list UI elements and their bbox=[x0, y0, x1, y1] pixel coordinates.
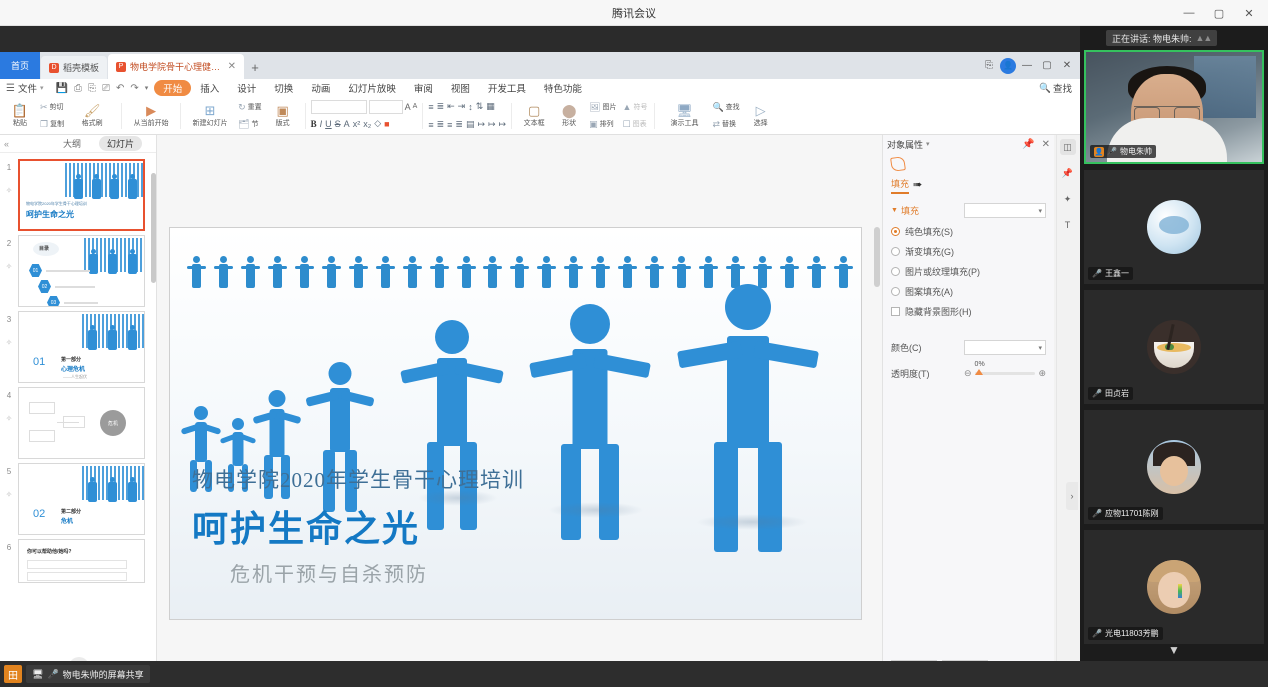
backup-icon[interactable]: ⎘ bbox=[980, 56, 998, 76]
subscript-icon[interactable]: x₂ bbox=[363, 119, 371, 129]
people-figures-art bbox=[69, 171, 141, 199]
animation-star-icon: ✧ bbox=[0, 262, 18, 271]
copy-label: 复制 bbox=[50, 119, 64, 129]
align-middle-icon[interactable]: ↦ bbox=[488, 119, 496, 130]
toc-number-badge: 01 bbox=[29, 264, 42, 277]
slider-knob[interactable] bbox=[975, 369, 983, 375]
tab-animation[interactable]: 动画 bbox=[302, 80, 339, 96]
mic-muted-icon: 🎤 bbox=[1092, 629, 1102, 638]
radio-solid-fill[interactable]: 纯色填充(S) bbox=[891, 225, 1046, 238]
font-column: A A B I U S A x² x₂ ◇ ■ bbox=[311, 100, 418, 132]
redo-icon[interactable]: ↷ bbox=[130, 83, 138, 94]
dock-icon: D bbox=[49, 63, 59, 73]
reset-icon: ↻ bbox=[238, 102, 246, 113]
section-button[interactable]: 🗂 节 bbox=[236, 117, 264, 132]
paste-label: 粘贴 bbox=[13, 118, 27, 128]
layout-button[interactable]: ▣ 版式 bbox=[266, 104, 300, 128]
tab-features[interactable]: 特色功能 bbox=[535, 80, 591, 96]
font-name-input[interactable] bbox=[311, 100, 367, 114]
wps-menu-bar: ☰ 文件 ▾ 💾 ⎙ ⎘ ⎚ ↶ ↷ ▾ 开始 插入 设计 切换 动画 bbox=[0, 79, 1080, 97]
wps-tab-label: 物电学院骨干心理健康培训.pptx bbox=[130, 60, 222, 73]
thumbnail-number: 4✧ bbox=[0, 387, 18, 423]
tab-outline[interactable]: 大纲 bbox=[55, 136, 89, 151]
thumbnail-preview[interactable]: 你可以帮助他/她吗? bbox=[18, 539, 145, 583]
grow-font-icon[interactable]: A bbox=[405, 102, 411, 112]
find-label: 查找 bbox=[726, 102, 740, 112]
superscript-icon[interactable]: x² bbox=[353, 119, 361, 129]
picture-label: 图片 bbox=[603, 102, 617, 112]
audio-wave-icon: ▲▲ bbox=[1196, 33, 1212, 43]
clipboard-group: 📋 粘贴 ✂ 剪切 ❐ 复制 🖌 bbox=[4, 97, 116, 135]
replace-icon: ⇄ bbox=[712, 119, 720, 130]
symbol-column: ▲ 符号 ☐ 图表 bbox=[621, 100, 650, 132]
mini-title: 目录 bbox=[39, 245, 49, 252]
highlight-icon[interactable]: ■ bbox=[384, 119, 389, 129]
meeting-title-bar: 腾讯会议 — ▢ ✕ bbox=[0, 0, 1268, 26]
participant-name: 应物11701陈刚 bbox=[1105, 508, 1159, 519]
slide-main-title[interactable]: 呵护生命之光 bbox=[192, 500, 420, 552]
paragraph-column: ≡ ≣ ⇤ ⇥ ↕ ⇅ ▦ ≡ ≣ ≡ ≣ bbox=[428, 99, 506, 133]
from-current-button[interactable]: ▶ 从当前开始 bbox=[127, 104, 175, 128]
layout-label: 版式 bbox=[276, 118, 290, 128]
thumbnail-list[interactable]: 1✧ 物电学院2020年学生骨干心理培训 呵护生命之光 bbox=[0, 153, 157, 661]
color-picker-dropdown[interactable]: ▾ bbox=[964, 340, 1046, 355]
collapse-pane-icon[interactable]: « bbox=[4, 139, 9, 149]
transparency-value: 0% bbox=[975, 361, 985, 368]
thumbnail-item[interactable]: 3✧ 01 第一部分 心理危机 bbox=[0, 307, 157, 383]
decrease-indent-icon[interactable]: ⇤ bbox=[447, 101, 455, 112]
wps-tab-strip: 首页 D 稻壳模板 P 物电学院骨干心理健康培训.pptx ✕ + ⎘ 👤 — … bbox=[0, 52, 1080, 79]
scroll-down-button[interactable]: ▼ bbox=[1080, 643, 1268, 657]
restore-icon[interactable]: ▢ bbox=[1038, 56, 1056, 76]
participant-name: 田贞岩 bbox=[1105, 388, 1129, 399]
paste-icon: 📋 bbox=[12, 104, 28, 117]
section-title: 第一部分 bbox=[61, 356, 81, 363]
fill-section-title[interactable]: ▼ 填充 bbox=[891, 204, 919, 217]
cut-button[interactable]: ✂ 剪切 bbox=[38, 100, 66, 115]
radio-picture-texture-fill[interactable]: 图片或纹理填充(P) bbox=[891, 265, 1046, 278]
taskbar-item-label: 物电朱帅的屏幕共享 bbox=[63, 668, 144, 681]
list-row: ≡ ≣ ⇤ ⇥ ↕ ⇅ ▦ bbox=[428, 99, 506, 115]
tab-review[interactable]: 审阅 bbox=[405, 80, 442, 96]
italic-button[interactable]: I bbox=[320, 119, 323, 129]
mini-slide: 危机 bbox=[19, 388, 144, 458]
pin-rail-icon[interactable]: 📌 bbox=[1060, 165, 1076, 181]
tab-insert[interactable]: 插入 bbox=[191, 80, 228, 96]
active-speaker-banner: 正在讲话: 物电朱帅: ▲▲ bbox=[1106, 30, 1217, 46]
wps-ribbon: 📋 粘贴 ✂ 剪切 ❐ 复制 🖌 bbox=[0, 97, 1080, 135]
increase-icon[interactable]: ⊕ bbox=[1038, 368, 1046, 379]
align-bottom-icon[interactable]: ↦ bbox=[499, 119, 507, 130]
radio-indicator bbox=[891, 247, 900, 256]
meeting-window-title: 腾讯会议 bbox=[612, 5, 656, 21]
new-slide-icon: ⊞ bbox=[205, 104, 216, 117]
wps-home-tab[interactable]: 首页 bbox=[0, 52, 40, 79]
transparency-slider[interactable]: ⊖ 0% ⊕ bbox=[964, 368, 1046, 379]
fill-section: ▼ 填充 ▾ 纯色填充(S) bbox=[883, 203, 1054, 380]
animation-star-icon: ✧ bbox=[0, 186, 18, 195]
pin-icon[interactable]: 📌 bbox=[1022, 139, 1034, 150]
font-group: A A B I U S A x² x₂ ◇ ■ bbox=[311, 97, 418, 135]
increase-indent-icon[interactable]: ⇥ bbox=[458, 101, 466, 112]
new-slide-button[interactable]: ⊞ 新建幻灯片 bbox=[186, 104, 234, 128]
replace-label: 替换 bbox=[722, 119, 736, 129]
toc-number-badge: 03 bbox=[47, 296, 60, 307]
tab-slideshow[interactable]: 幻灯片放映 bbox=[339, 80, 405, 96]
radio-pattern-fill[interactable]: 图案填充(A) bbox=[891, 285, 1046, 298]
decrease-icon[interactable]: ⊖ bbox=[964, 368, 972, 379]
symbol-label: 符号 bbox=[633, 102, 647, 112]
screen-share-icon: 🖥 bbox=[32, 669, 43, 680]
chart-icon: ☐ bbox=[623, 119, 631, 130]
properties-rail-icon[interactable]: ◫ bbox=[1060, 139, 1076, 155]
panel-collapse-handle[interactable]: › bbox=[1066, 482, 1078, 510]
print-preview-icon[interactable]: ⎘ bbox=[88, 83, 96, 94]
close-icon[interactable]: ✕ bbox=[1234, 0, 1264, 26]
slide-subtitle-bottom[interactable]: 危机干预与自杀预防 bbox=[230, 558, 428, 587]
slides-group: ⊞ 新建幻灯片 ↻ 重置 🗂 节 ▣ bbox=[186, 97, 300, 135]
participant-tile[interactable]: 👤 🎤 物电朱帅 bbox=[1084, 50, 1264, 164]
section-note: ——人生起伏 bbox=[63, 374, 87, 380]
current-slide[interactable]: 物电学院2020年学生骨干心理培训 呵护生命之光 危机干预与自杀预防 bbox=[169, 227, 862, 620]
animation-star-icon: ✧ bbox=[0, 338, 18, 347]
avatar bbox=[1147, 320, 1201, 374]
object-properties-panel: 对象属性 ▾ 📌 ✕ 填充 ➠ bbox=[882, 135, 1054, 661]
properties-tab-row: 填充 ➠ bbox=[883, 175, 1054, 193]
shrink-font-icon[interactable]: A bbox=[413, 103, 418, 110]
divider bbox=[180, 103, 181, 129]
tab-transition[interactable]: 切换 bbox=[265, 80, 302, 96]
thumbnail-number: 2✧ bbox=[0, 235, 18, 271]
section-icon: 🗂 bbox=[238, 119, 249, 130]
copy-icon: ❐ bbox=[40, 119, 48, 130]
underline-button[interactable]: U bbox=[325, 119, 332, 129]
present-tool-label: 演示工具 bbox=[670, 118, 698, 128]
taskbar-item-screen-share[interactable]: 🖥 🎤 物电朱帅的屏幕共享 bbox=[26, 665, 150, 683]
wps-window-controls: ⎘ 👤 — ▢ ✕ bbox=[980, 52, 1080, 79]
tab-start[interactable]: 开始 bbox=[154, 80, 191, 96]
reset-label: 重置 bbox=[248, 102, 262, 112]
layout-icon: ▣ bbox=[276, 104, 288, 117]
section-subtitle: 心理危机 bbox=[61, 364, 85, 373]
slider-track[interactable]: 0% bbox=[975, 372, 1036, 375]
wps-body: « 大纲 幻灯片 1✧ bbox=[0, 135, 1080, 661]
align-top-icon[interactable]: ↦ bbox=[477, 119, 485, 130]
properties-rail: ◫ 📌 ✦ T bbox=[1056, 135, 1078, 661]
find-button[interactable]: 🔍 查找 bbox=[1039, 81, 1080, 95]
present-tool-icon: 🖥 bbox=[676, 104, 693, 117]
mini-subtitle: 物电学院2020年学生骨干心理培训 bbox=[26, 201, 87, 207]
slide-subtitle-top[interactable]: 物电学院2020年学生骨干心理培训 bbox=[192, 464, 524, 494]
new-slide-label: 新建幻灯片 bbox=[193, 118, 228, 128]
thumbnail-preview[interactable]: 目录 01 02 03 bbox=[18, 235, 145, 307]
participant-name: 物电朱帅 bbox=[1120, 146, 1152, 157]
tools-group: 🖥 演示工具 🔍 查找 ⇄ 替换 ▷ bbox=[660, 97, 777, 135]
select-icon: ▷ bbox=[756, 104, 766, 117]
paragraph-group: ≡ ≣ ⇤ ⇥ ↕ ⇅ ▦ ≡ ≣ ≡ ≣ bbox=[428, 97, 506, 135]
radio-label: 图案填充(A) bbox=[905, 285, 953, 298]
meeting-window-controls: — ▢ ✕ bbox=[1174, 0, 1264, 26]
undo-icon[interactable]: ↶ bbox=[116, 83, 124, 94]
chevron-down-icon[interactable]: ▾ bbox=[145, 84, 149, 92]
thumbnail-item[interactable]: 2✧ 目录 bbox=[0, 231, 157, 307]
print-icon[interactable]: ⎙ bbox=[74, 83, 82, 94]
tab-design[interactable]: 设计 bbox=[228, 80, 265, 96]
tab-developer[interactable]: 开发工具 bbox=[479, 80, 535, 96]
text-shadow-icon[interactable]: A bbox=[344, 119, 350, 129]
play-circle-icon: ▶ bbox=[146, 104, 156, 117]
participant-tile[interactable]: 🎤 王鑫一 bbox=[1084, 170, 1264, 284]
close-icon[interactable]: ✕ bbox=[228, 61, 236, 72]
chart-button[interactable]: ☐ 图表 bbox=[621, 117, 650, 132]
thumbnail-item[interactable]: 4✧ 危机 bbox=[0, 383, 157, 459]
participant-tile[interactable]: 🎤 光电11803芳鹏 bbox=[1084, 530, 1264, 644]
maximize-icon[interactable]: ▢ bbox=[1204, 0, 1234, 26]
wps-new-tab-button[interactable]: + bbox=[244, 56, 266, 79]
participant-name-badge: 👤 🎤 物电朱帅 bbox=[1090, 145, 1156, 158]
mic-icon: 🎤 bbox=[47, 669, 58, 680]
tab-fill[interactable]: 填充 bbox=[891, 177, 909, 192]
wps-tab-template[interactable]: D 稻壳模板 bbox=[41, 56, 107, 79]
replace-button[interactable]: ⇄ 替换 bbox=[710, 117, 741, 132]
divider bbox=[654, 103, 655, 129]
avatar bbox=[1147, 200, 1201, 254]
active-speaker-label: 正在讲话: 物电朱帅: bbox=[1112, 32, 1192, 45]
shared-screen-area: 首页 D 稻壳模板 P 物电学院骨干心理健康培训.pptx ✕ + ⎘ 👤 — … bbox=[0, 26, 1080, 661]
participant-name: 王鑫一 bbox=[1105, 268, 1129, 279]
picture-icon: 🖼 bbox=[589, 102, 600, 113]
section-label: 节 bbox=[252, 119, 259, 129]
search-icon: 🔍 bbox=[1039, 83, 1051, 94]
clear-format-icon[interactable]: ◇ bbox=[374, 118, 381, 129]
present-tool-button[interactable]: 🖥 演示工具 bbox=[660, 104, 708, 128]
symbol-button[interactable]: ▲ 符号 bbox=[621, 100, 650, 115]
slide-canvas-area[interactable]: 物电学院2020年学生骨干心理培训 呵护生命之光 危机干预与自杀预防 bbox=[157, 135, 882, 661]
thumbnail-tabs: « 大纲 幻灯片 bbox=[0, 135, 156, 153]
distribute-icon[interactable]: ▤ bbox=[466, 119, 475, 130]
scissors-icon: ✂ bbox=[40, 102, 48, 113]
participant-name-badge: 🎤 田贞岩 bbox=[1088, 387, 1133, 400]
arrange-button[interactable]: ▣ 排列 bbox=[587, 117, 618, 132]
font-style-row: B I U S A x² x₂ ◇ ■ bbox=[311, 116, 418, 132]
thumbnail-scrollbar[interactable] bbox=[151, 173, 156, 283]
align-right-icon[interactable]: ≡ bbox=[447, 120, 452, 130]
shape-fill-icon[interactable] bbox=[890, 156, 906, 172]
screen-root: 腾讯会议 — ▢ ✕ 首页 D 稻壳模板 P 物电学院骨干心理健康培训.pptx… bbox=[0, 0, 1268, 687]
close-icon[interactable]: ✕ bbox=[1058, 56, 1076, 76]
divider bbox=[121, 103, 122, 129]
minimize-icon[interactable]: — bbox=[1174, 0, 1204, 26]
start-button[interactable]: 田 bbox=[4, 665, 22, 683]
mini-slide: 目录 01 02 03 bbox=[19, 236, 144, 306]
thumbnail-preview[interactable]: 01 第一部分 心理危机 ——人生起伏 bbox=[18, 311, 145, 383]
user-avatar[interactable]: 👤 bbox=[1000, 58, 1016, 74]
tab-slides[interactable]: 幻灯片 bbox=[99, 136, 142, 151]
font-size-input[interactable] bbox=[369, 100, 403, 114]
tab-view[interactable]: 视图 bbox=[442, 80, 479, 96]
color-label: 颜色(C) bbox=[891, 341, 922, 354]
cursor-pointer-icon: ➠ bbox=[913, 178, 922, 191]
symbol-icon: ▲ bbox=[623, 102, 632, 112]
animation-star-icon: ✧ bbox=[0, 490, 18, 499]
section-number: 01 bbox=[33, 356, 45, 368]
mini-slide: 01 第一部分 心理危机 ——人生起伏 bbox=[19, 312, 144, 382]
columns-icon[interactable]: ▦ bbox=[486, 101, 495, 112]
divider bbox=[305, 103, 306, 129]
hamburger-icon: ☰ bbox=[6, 83, 15, 94]
textbox-label: 文本框 bbox=[524, 118, 545, 128]
justify-icon[interactable]: ≣ bbox=[455, 119, 463, 130]
thumbnail-item[interactable]: 5✧ 02 第二部分 危机 bbox=[0, 459, 157, 535]
slideshow-group: ▶ 从当前开始 bbox=[127, 97, 175, 135]
participant-sidebar: 正在讲话: 物电朱帅: ▲▲ 👤 🎤 物电朱帅 bbox=[1080, 26, 1268, 661]
people-figures-art bbox=[82, 322, 142, 350]
mini-slide: 你可以帮助他/她吗? bbox=[19, 540, 144, 582]
reset-button[interactable]: ↻ 重置 bbox=[236, 100, 264, 115]
thumbnail-preview[interactable]: 物电学院2020年学生骨干心理培训 呵护生命之光 bbox=[18, 159, 145, 231]
minimize-icon[interactable]: — bbox=[1018, 56, 1036, 76]
align-row: ≡ ≣ ≡ ≣ ▤ ↦ ↦ ↦ bbox=[428, 117, 506, 133]
thumbnail-number: 5✧ bbox=[0, 463, 18, 499]
find-label: 查找 bbox=[1053, 81, 1072, 95]
radio-gradient-fill[interactable]: 渐变填充(G) bbox=[891, 245, 1046, 258]
fill-preset-dropdown[interactable]: ▾ bbox=[964, 203, 1046, 218]
copy-button[interactable]: ❐ 复制 bbox=[38, 117, 66, 132]
pptx-icon: P bbox=[116, 62, 126, 72]
format-painter-button[interactable]: 🖌 格式刷 bbox=[68, 104, 116, 128]
save-icon[interactable]: 💾 bbox=[56, 83, 68, 94]
slide-thumbnail-pane: « 大纲 幻灯片 1✧ bbox=[0, 135, 157, 661]
avatar bbox=[1147, 560, 1201, 614]
thumbnail-preview[interactable]: 02 第二部分 危机 bbox=[18, 463, 145, 535]
section-number: 02 bbox=[33, 508, 45, 520]
radio-label: 图片或纹理填充(P) bbox=[905, 265, 980, 278]
radio-label: 纯色填充(S) bbox=[905, 225, 953, 238]
brush-icon: 🖌 bbox=[84, 104, 101, 117]
transparency-label: 透明度(T) bbox=[891, 367, 930, 380]
bullet-list-icon[interactable]: ≡ bbox=[428, 102, 433, 112]
insert-group: ▢ 文本框 ⬤ 形状 🖼 图片 ▣ 排列 bbox=[517, 97, 649, 135]
radio-indicator bbox=[891, 287, 900, 296]
windows-taskbar: 田 🖥 🎤 物电朱帅的屏幕共享 bbox=[0, 661, 1268, 687]
animation-star-icon: ✧ bbox=[0, 414, 18, 423]
chevron-down-icon[interactable]: ▾ bbox=[926, 140, 930, 148]
select-label: 选择 bbox=[754, 118, 768, 128]
mini-title: 呵护生命之光 bbox=[26, 209, 74, 220]
format-painter-label: 格式刷 bbox=[82, 118, 103, 128]
textbox-button[interactable]: ▢ 文本框 bbox=[517, 104, 551, 128]
select-button[interactable]: ▷ 选择 bbox=[744, 104, 778, 128]
mic-muted-icon: 🎤 bbox=[1092, 389, 1102, 398]
close-icon[interactable]: ✕ bbox=[1042, 139, 1050, 150]
bold-button[interactable]: B bbox=[311, 119, 317, 129]
line-spacing-icon[interactable]: ↕ bbox=[468, 102, 473, 112]
thumbnail-item[interactable]: 6 你可以帮助他/她吗? bbox=[0, 535, 157, 583]
mic-icon: 🎤 bbox=[1107, 147, 1117, 156]
from-current-label: 从当前开始 bbox=[134, 118, 169, 128]
participant-tile[interactable]: 🎤 应物11701陈刚 bbox=[1084, 410, 1264, 524]
mini-title: 你可以帮助他/她吗? bbox=[27, 548, 71, 555]
properties-title: 对象属性 bbox=[887, 138, 923, 151]
participant-tile[interactable]: 🎤 田贞岩 bbox=[1084, 290, 1264, 404]
strikethrough-button[interactable]: S bbox=[335, 119, 341, 129]
thumbnail-item[interactable]: 1✧ 物电学院2020年学生骨干心理培训 呵护生命之光 bbox=[0, 155, 157, 231]
arrange-icon: ▣ bbox=[589, 119, 598, 130]
mini-slide: 02 第二部分 危机 bbox=[19, 464, 144, 534]
people-figures-art bbox=[82, 474, 142, 502]
cut-label: 剪切 bbox=[50, 102, 64, 112]
zoom-rail-icon[interactable]: ✦ bbox=[1060, 191, 1076, 207]
section-subtitle: 危机 bbox=[61, 516, 73, 525]
chevron-down-icon: ▾ bbox=[40, 84, 44, 92]
file-menu-button[interactable]: ☰ 文件 ▾ bbox=[0, 81, 50, 95]
participant-name-badge: 🎤 应物11701陈刚 bbox=[1088, 507, 1163, 520]
participant-name-badge: 🎤 王鑫一 bbox=[1088, 267, 1133, 280]
fill-label: 填充 bbox=[901, 204, 919, 217]
quick-access-toolbar: 💾 ⎙ ⎘ ⎚ ↶ ↷ ▾ bbox=[50, 83, 155, 94]
export-pdf-icon[interactable]: ⎚ bbox=[102, 83, 110, 94]
wps-presentation-window: 首页 D 稻壳模板 P 物电学院骨干心理健康培训.pptx ✕ + ⎘ 👤 — … bbox=[0, 52, 1080, 661]
shape-label: 形状 bbox=[562, 118, 576, 128]
mic-muted-icon: 🎤 bbox=[1092, 509, 1102, 518]
align-left-icon[interactable]: ≡ bbox=[428, 120, 433, 130]
properties-header: 对象属性 ▾ 📌 ✕ bbox=[883, 135, 1054, 153]
divider bbox=[511, 103, 512, 129]
thumbnail-preview[interactable]: 危机 bbox=[18, 387, 145, 459]
picture-button[interactable]: 🖼 图片 bbox=[587, 100, 618, 115]
mini-slide: 物电学院2020年学生骨干心理培训 呵护生命之光 bbox=[20, 161, 143, 229]
find-button[interactable]: 🔍 查找 bbox=[710, 100, 741, 115]
paste-button[interactable]: 📋 粘贴 bbox=[4, 104, 36, 128]
thumbnail-number: 1✧ bbox=[0, 159, 18, 195]
find-column: 🔍 查找 ⇄ 替换 bbox=[710, 100, 741, 132]
thumbnail-number: 3✧ bbox=[0, 311, 18, 347]
number-list-icon[interactable]: ≣ bbox=[437, 101, 445, 112]
radio-indicator bbox=[891, 227, 900, 236]
search-icon: 🔍 bbox=[712, 102, 723, 113]
wps-tab-document[interactable]: P 物电学院骨干心理健康培训.pptx ✕ bbox=[108, 54, 244, 79]
diagram-center-label: 危机 bbox=[108, 420, 118, 427]
host-icon: 👤 bbox=[1094, 147, 1104, 157]
checkbox-hide-bg-graphics[interactable]: 隐藏背景图形(H) bbox=[891, 305, 1046, 318]
participant-name-badge: 🎤 光电11803芳鹏 bbox=[1088, 627, 1163, 640]
chevron-down-icon: ▾ bbox=[1038, 344, 1042, 352]
align-center-icon[interactable]: ≣ bbox=[437, 119, 445, 130]
divider bbox=[422, 103, 423, 129]
text-rail-icon[interactable]: T bbox=[1060, 217, 1076, 233]
avatar bbox=[1147, 440, 1201, 494]
chevron-down-icon: ▼ bbox=[891, 207, 898, 214]
participant-name: 光电11803芳鹏 bbox=[1105, 628, 1159, 639]
thumbnail-number: 6 bbox=[0, 539, 18, 552]
shape-button[interactable]: ⬤ 形状 bbox=[553, 104, 585, 128]
text-direction-icon[interactable]: ⇅ bbox=[476, 101, 484, 112]
shapes-icon: ⬤ bbox=[562, 104, 577, 117]
toc-number-badge: 02 bbox=[38, 280, 51, 293]
section-title: 第二部分 bbox=[61, 508, 81, 515]
canvas-vertical-scrollbar[interactable] bbox=[874, 227, 880, 287]
picture-column: 🖼 图片 ▣ 排列 bbox=[587, 100, 618, 132]
layout-column: ↻ 重置 🗂 节 bbox=[236, 100, 264, 132]
mic-muted-icon: 🎤 bbox=[1092, 269, 1102, 278]
cut-copy-column: ✂ 剪切 ❐ 复制 bbox=[38, 100, 66, 132]
radio-indicator bbox=[891, 267, 900, 276]
arrange-label: 排列 bbox=[600, 119, 614, 129]
file-menu-label: 文件 bbox=[18, 81, 37, 95]
radio-label: 渐变填充(G) bbox=[905, 245, 954, 258]
textbox-icon: ▢ bbox=[528, 104, 540, 117]
chevron-down-icon: ▾ bbox=[1038, 207, 1042, 215]
